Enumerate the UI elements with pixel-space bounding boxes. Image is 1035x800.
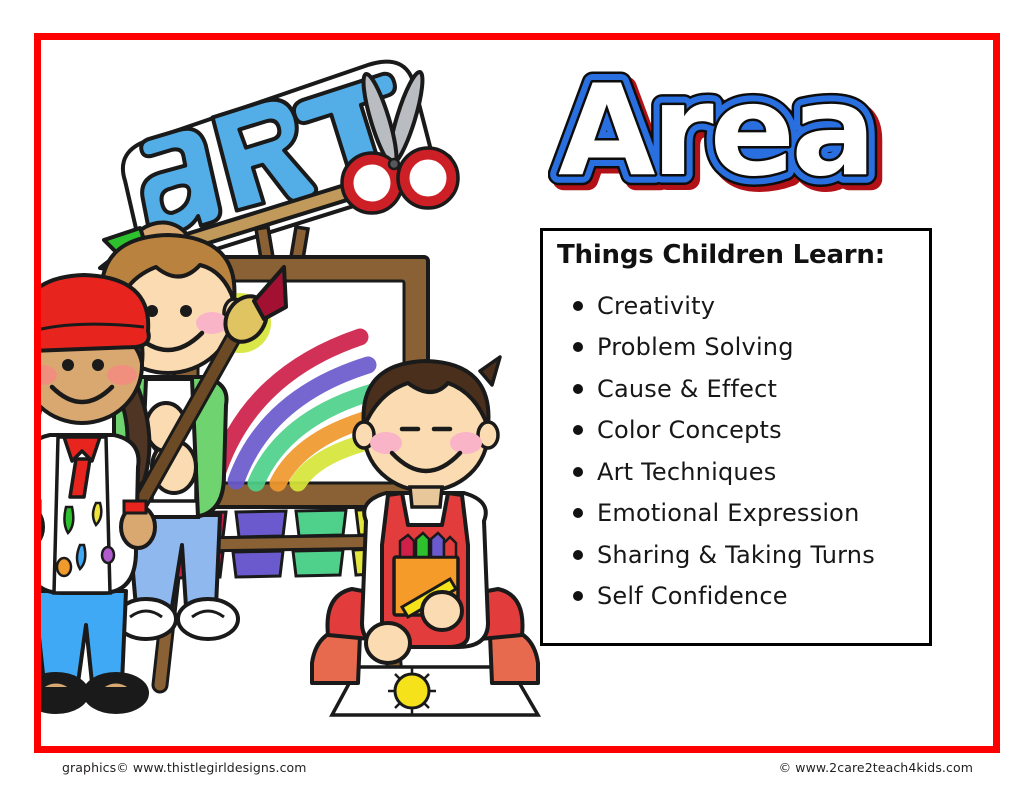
credit-right: © www.2care2teach4kids.com	[779, 760, 973, 775]
art-area-poster: Area Area Area Area Area	[0, 0, 1035, 800]
credit-left: graphics© www.thistlegirldesigns.com	[62, 760, 307, 775]
poster-border	[34, 33, 1000, 753]
